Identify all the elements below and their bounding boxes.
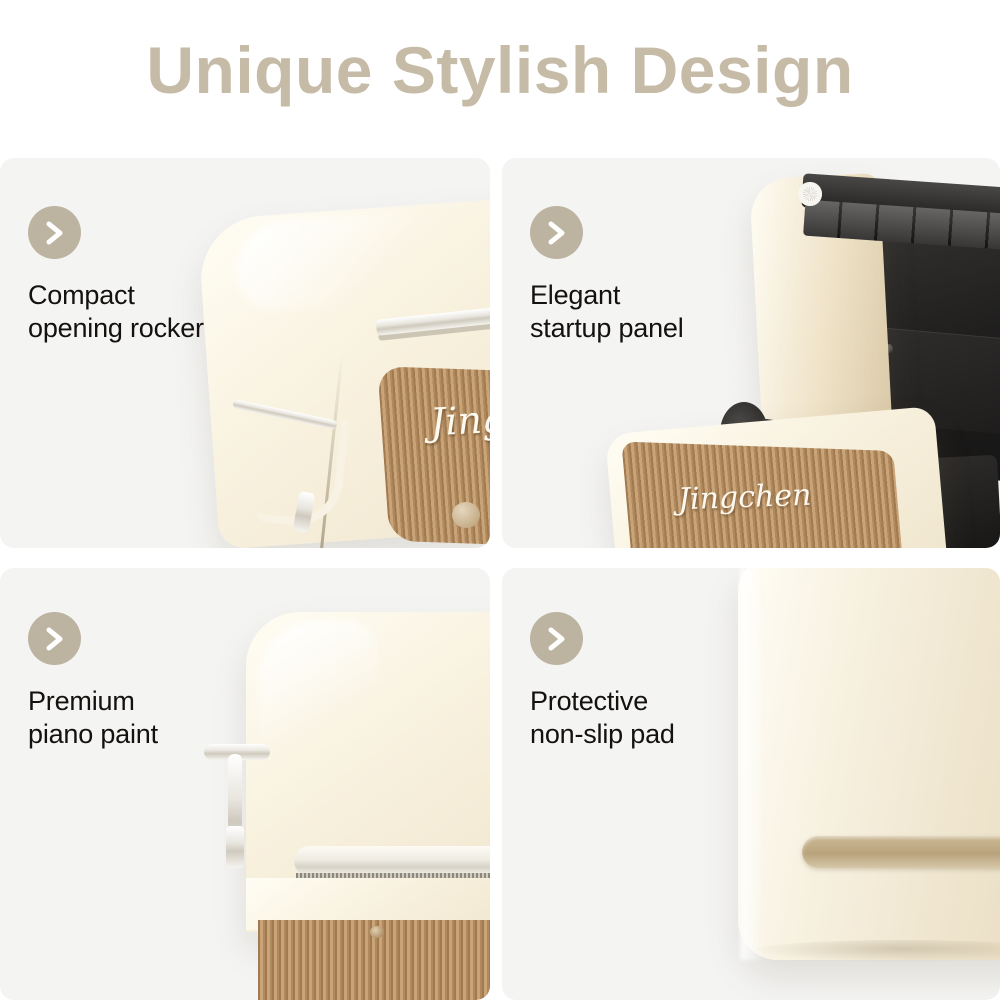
panel-caption: Compact opening rocker [28,279,204,345]
base-screw [370,926,384,938]
feature-panel-elegant-startup-panel: Jingchen Elegant startup panel [502,158,1000,548]
side-knob [452,502,480,528]
panel-caption: Elegant startup panel [530,279,684,345]
feature-panel-premium-piano-paint: Premium piano paint [0,568,490,1000]
body-highlight [258,620,378,770]
body-highlight [233,209,439,313]
product-feature-infographic: Unique Stylish Design Jingchen [0,0,1000,1000]
feature-panel-protective-non-slip-pad: Protective non-slip pad [502,568,1000,1000]
chevron-right-icon [530,612,583,665]
brand-logo: Jingchen [429,392,490,445]
panel-text-block: Compact opening rocker [28,206,204,345]
roller-gear-icon [798,182,822,206]
panel-caption: Premium piano paint [28,685,158,751]
panel-text-block: Elegant startup panel [530,206,684,345]
feature-panel-grid: Jingchen Compact opening rocker [0,158,1000,1000]
panel-text-block: Premium piano paint [28,612,158,751]
panel-caption: Protective non-slip pad [530,685,675,751]
printer-body-side [738,568,1000,960]
chevron-right-icon [28,206,81,259]
chevron-right-icon [530,206,583,259]
chevron-right-icon [28,612,81,665]
feature-panel-compact-opening-rocker: Jingchen Compact opening rocker [0,158,490,548]
non-slip-pad [802,836,1000,868]
rocker-lever-foot [226,826,244,868]
paper-cutter-strip [294,846,490,876]
body-edge-highlight [740,568,766,960]
panel-text-block: Protective non-slip pad [530,612,675,751]
page-title: Unique Stylish Design [0,34,1000,106]
brand-logo: Jingchen [677,478,811,518]
